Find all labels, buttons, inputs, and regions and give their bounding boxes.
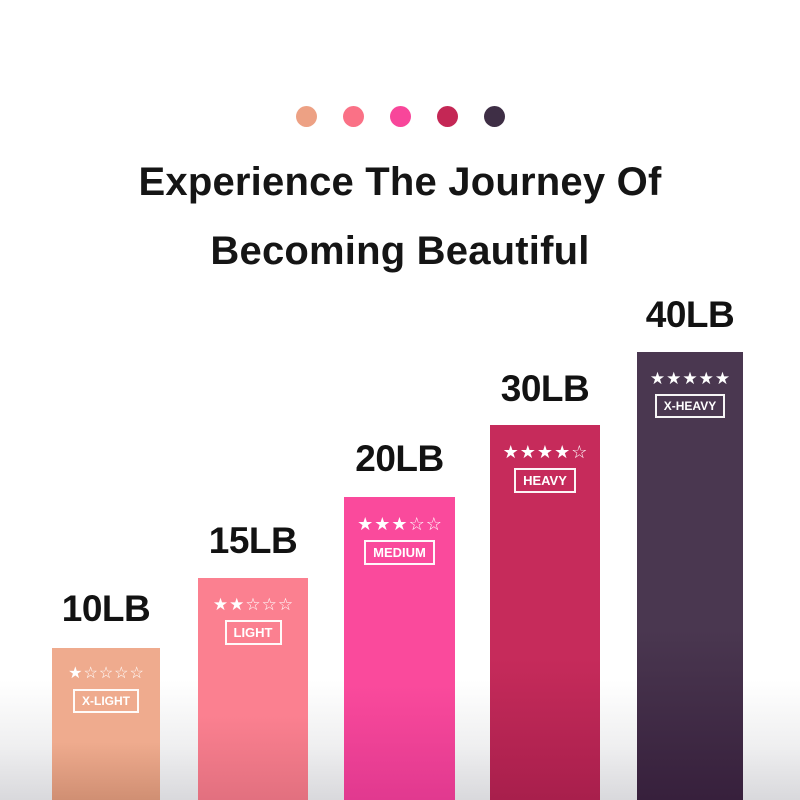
bar-value-label: 30LB [501,368,589,410]
star-filled-icon: ★ [699,370,714,387]
bar-badge: ★★★★★X-HEAVY [637,370,743,418]
star-rating: ★★★★☆ [503,443,588,461]
bar-x-light[interactable]: ★☆☆☆☆X-LIGHT [52,648,160,800]
bar-badge: ★★★★☆HEAVY [490,443,600,493]
star-filled-icon: ★ [715,370,730,387]
star-rating: ★★☆☆☆ [213,596,293,613]
star-filled-icon: ★ [682,370,697,387]
star-empty-icon: ☆ [99,666,113,682]
star-empty-icon: ☆ [83,666,97,682]
star-filled-icon: ★ [537,443,553,461]
level-label: X-HEAVY [655,394,725,418]
level-label: MEDIUM [364,540,435,565]
star-filled-icon: ★ [554,443,570,461]
star-filled-icon: ★ [503,443,519,461]
star-filled-icon: ★ [374,515,390,533]
star-rating: ★☆☆☆☆ [68,666,144,682]
level-label: LIGHT [225,620,282,645]
star-empty-icon: ☆ [245,596,260,613]
star-empty-icon: ☆ [114,666,128,682]
star-filled-icon: ★ [520,443,536,461]
bar-badge: ★☆☆☆☆X-LIGHT [52,666,160,713]
bar-x-heavy[interactable]: ★★★★★X-HEAVY [637,352,743,800]
bar-light[interactable]: ★★☆☆☆LIGHT [198,578,308,800]
star-filled-icon: ★ [213,596,228,613]
bar-heavy[interactable]: ★★★★☆HEAVY [490,425,600,800]
bar-value-label: 15LB [209,520,297,562]
bar-medium[interactable]: ★★★☆☆MEDIUM [344,497,455,800]
star-empty-icon: ☆ [130,666,144,682]
bar-badge: ★★☆☆☆LIGHT [198,596,308,645]
bar-group-medium[interactable]: 20LB★★★☆☆MEDIUM [344,0,455,800]
bar-value-label: 10LB [62,588,150,630]
star-filled-icon: ★ [68,666,82,682]
star-filled-icon: ★ [666,370,681,387]
bar-value-label: 20LB [355,438,443,480]
star-empty-icon: ☆ [409,515,425,533]
infographic-canvas: Experience The Journey Of Becoming Beaut… [0,0,800,800]
star-empty-icon: ☆ [262,596,277,613]
star-filled-icon: ★ [229,596,244,613]
star-empty-icon: ☆ [571,443,587,461]
bar-value-label: 40LB [646,294,734,336]
bar-group-x-light[interactable]: 10LB★☆☆☆☆X-LIGHT [52,0,160,800]
star-rating: ★★★★★ [650,370,730,387]
bar-group-x-heavy[interactable]: 40LB★★★★★X-HEAVY [637,0,743,800]
star-rating: ★★★☆☆ [357,515,442,533]
level-label: X-LIGHT [73,689,139,713]
star-filled-icon: ★ [357,515,373,533]
bar-group-light[interactable]: 15LB★★☆☆☆LIGHT [198,0,308,800]
level-label: HEAVY [514,468,576,493]
bar-badge: ★★★☆☆MEDIUM [344,515,455,565]
star-filled-icon: ★ [650,370,665,387]
resistance-level-bar-chart: 10LB★☆☆☆☆X-LIGHT15LB★★☆☆☆LIGHT20LB★★★☆☆M… [0,0,800,800]
star-empty-icon: ☆ [278,596,293,613]
star-empty-icon: ☆ [426,515,442,533]
bar-group-heavy[interactable]: 30LB★★★★☆HEAVY [490,0,600,800]
star-filled-icon: ★ [391,515,407,533]
